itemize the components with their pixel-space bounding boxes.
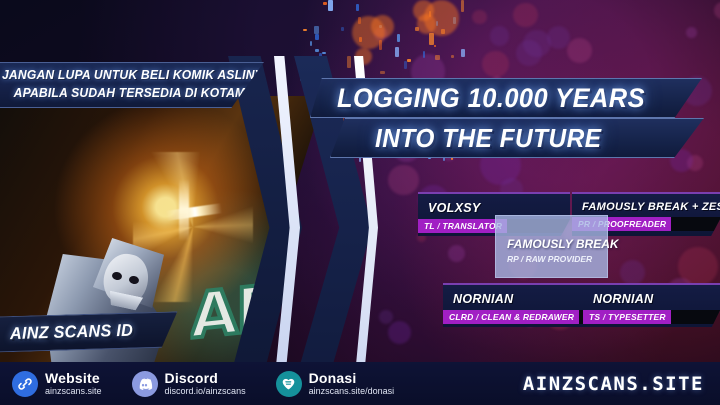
footer-link-subtitle: discord.io/ainzscans [165, 386, 246, 397]
poster-canvas: AP JANGAN LUPA UNTUK BELI KOMIK ASLINYA … [0, 0, 720, 405]
credit-card-typesetter: NORNIAN TS / TYPESETTER [583, 283, 720, 327]
credit-card-raw-provider: FAMOUSLY BREAK RP / RAW PROVIDER [495, 215, 608, 278]
footer-link-title: Donasi [309, 371, 395, 385]
credit-role-bar: TS / TYPESETTER [583, 310, 720, 324]
credit-tag-text: CLRD [449, 312, 473, 322]
title-banner-1: LOGGING 10.000 YEARS [310, 78, 702, 118]
credit-name: NORNIAN [443, 285, 595, 310]
footer-link-title: Website [45, 371, 102, 385]
link-icon [12, 371, 38, 397]
footer-link-text: Website ainzscans.site [45, 371, 102, 397]
credit-card-cleaner: NORNIAN CLRD / CLEAN & REDRAWER [443, 283, 595, 327]
notice-line-2: APABILA SUDAH TERSEDIA DI KOTAMU! [2, 85, 256, 103]
credit-name: NORNIAN [583, 285, 720, 310]
credit-name: FAMOUSLY BREAK [495, 215, 608, 254]
credit-name: FAMOUSLY BREAK + ZEST [572, 194, 720, 217]
credit-role-name: RAW PROVIDER [526, 254, 593, 264]
credit-role-text: CLEAN & REDRAWER [481, 312, 574, 322]
credit-role-text: RP / RAW PROVIDER [495, 254, 608, 264]
title-banner-2: INTO THE FUTURE [330, 118, 704, 158]
notice-line-1: JANGAN LUPA UNTUK BELI KOMIK ASLINYA [2, 67, 256, 85]
credit-role-text: PROOFREADER [598, 219, 666, 229]
title-line-2: INTO THE FUTURE [375, 123, 602, 154]
heart-hand-icon [276, 371, 302, 397]
credit-role-tag: CLRD / CLEAN & REDRAWER [443, 310, 579, 324]
footer-link-subtitle: ainzscans.site/donasi [309, 386, 395, 397]
scan-group-logo: AINZ SCANS ID [0, 311, 178, 352]
discord-icon [132, 371, 158, 397]
scan-group-name: AINZ SCANS ID [0, 321, 133, 345]
credit-role-text: TYPESETTER [608, 312, 666, 322]
title-block: LOGGING 10.000 YEARS INTO THE FUTURE [296, 78, 720, 168]
credit-role-text: TRANSLATOR [442, 221, 502, 231]
title-line-1: LOGGING 10.000 YEARS [337, 83, 645, 114]
footer-link-website[interactable]: Website ainzscans.site [12, 371, 102, 397]
site-brand: AINZSCANS.SITE [523, 373, 704, 395]
footer-link-subtitle: ainzscans.site [45, 386, 102, 397]
footer-link-title: Discord [165, 371, 246, 385]
light-flare-vertical [179, 179, 189, 241]
footer-bar: Website ainzscans.site Discord discord.i… [0, 362, 720, 405]
footer-link-donasi[interactable]: Donasi ainzscans.site/donasi [276, 371, 395, 397]
credit-role-tag: TS / TYPESETTER [583, 310, 671, 324]
buy-original-notice: JANGAN LUPA UNTUK BELI KOMIK ASLINYA APA… [0, 62, 264, 108]
credit-role-tag: TL / TRANSLATOR [418, 219, 507, 233]
credit-tag-text: RP [507, 254, 519, 264]
footer-link-text: Donasi ainzscans.site/donasi [309, 371, 395, 397]
credit-tag-text: TS [589, 312, 600, 322]
footer-link-text: Discord discord.io/ainzscans [165, 371, 246, 397]
footer-link-discord[interactable]: Discord discord.io/ainzscans [132, 371, 246, 397]
credit-role-bar: CLRD / CLEAN & REDRAWER [443, 310, 595, 324]
credit-tag-text: TL [424, 221, 435, 231]
